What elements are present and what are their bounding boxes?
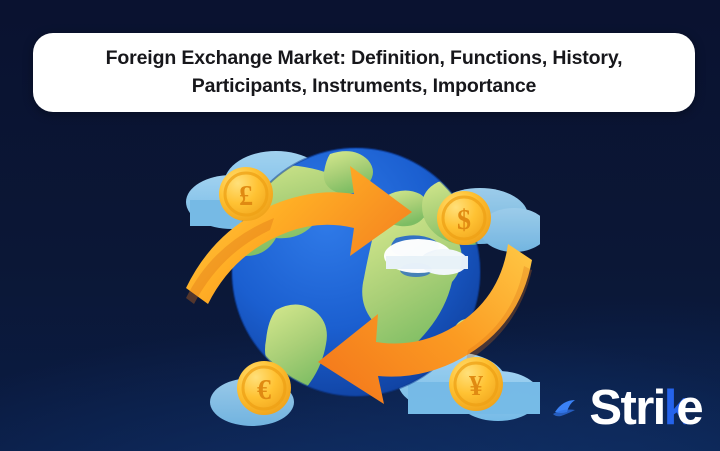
svg-text:£: £	[239, 181, 253, 212]
strike-logo[interactable]: Stri k e	[553, 384, 702, 433]
title-line-2: Participants, Instruments, Importance	[106, 73, 623, 101]
svg-text:€: €	[257, 375, 271, 406]
logo-arrow-icon	[553, 396, 583, 422]
coin-dollar: $	[437, 191, 491, 245]
svg-text:$: $	[457, 205, 471, 236]
title-line-1: Foreign Exchange Market: Definition, Fun…	[106, 45, 623, 73]
coin-pound: £	[219, 167, 273, 221]
svg-text:¥: ¥	[469, 371, 483, 402]
title-card: Foreign Exchange Market: Definition, Fun…	[33, 33, 695, 112]
globe-illustration: £ $ € ¥	[180, 120, 540, 440]
coin-yen: ¥	[449, 357, 503, 411]
logo-wordmark: Stri k e	[589, 384, 702, 433]
banner-image: Foreign Exchange Market: Definition, Fun…	[0, 0, 720, 451]
coin-euro: €	[237, 361, 291, 415]
logo-text-e: e	[676, 384, 702, 433]
logo-text-stri: Stri	[589, 384, 664, 433]
page-title: Foreign Exchange Market: Definition, Fun…	[92, 45, 637, 100]
